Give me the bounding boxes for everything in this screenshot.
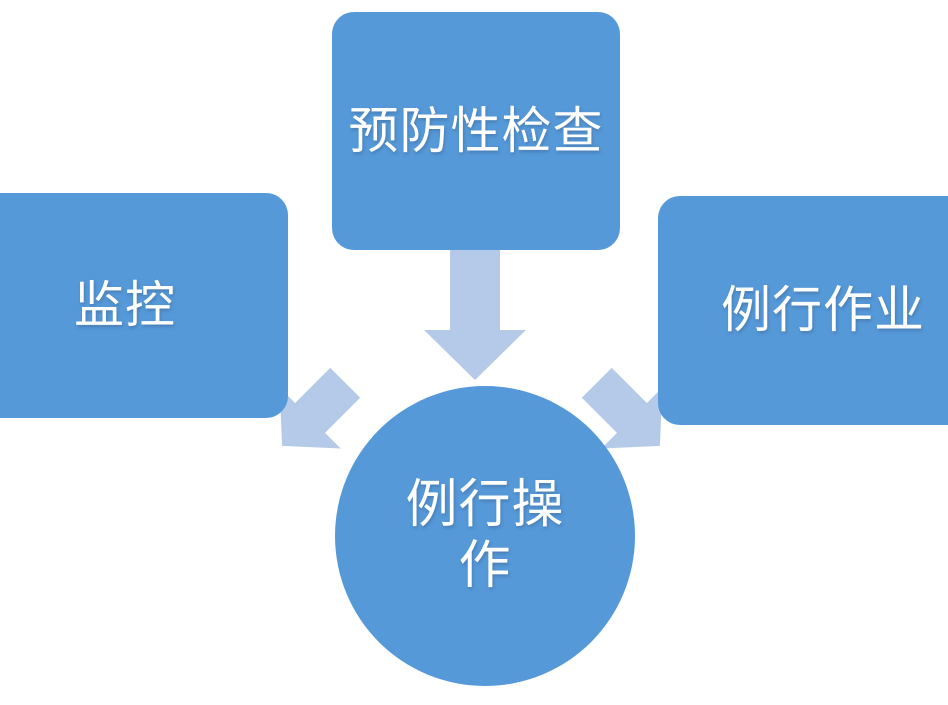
node-label-routine-operation-line1: 例行操 xyxy=(405,475,564,536)
node-label-routine-job: 例行作业 xyxy=(721,281,925,340)
node-label-routine-operation-line2: 作 xyxy=(405,536,564,597)
node-label-preventive-inspection: 预防性检查 xyxy=(349,102,604,161)
node-routine-job[interactable]: 例行作业 xyxy=(658,196,948,425)
node-preventive-inspection[interactable]: 预防性检查 xyxy=(332,12,620,250)
node-label-routine-operation: 例行操 作 xyxy=(405,475,564,598)
node-label-monitoring: 监控 xyxy=(74,276,176,335)
arrow-down-icon xyxy=(424,246,526,380)
node-monitoring[interactable]: 监控 xyxy=(0,193,288,418)
diagram-canvas: 预防性检查 监控 例行作业 例行操 作 xyxy=(0,0,948,705)
node-routine-operation[interactable]: 例行操 作 xyxy=(335,386,635,686)
